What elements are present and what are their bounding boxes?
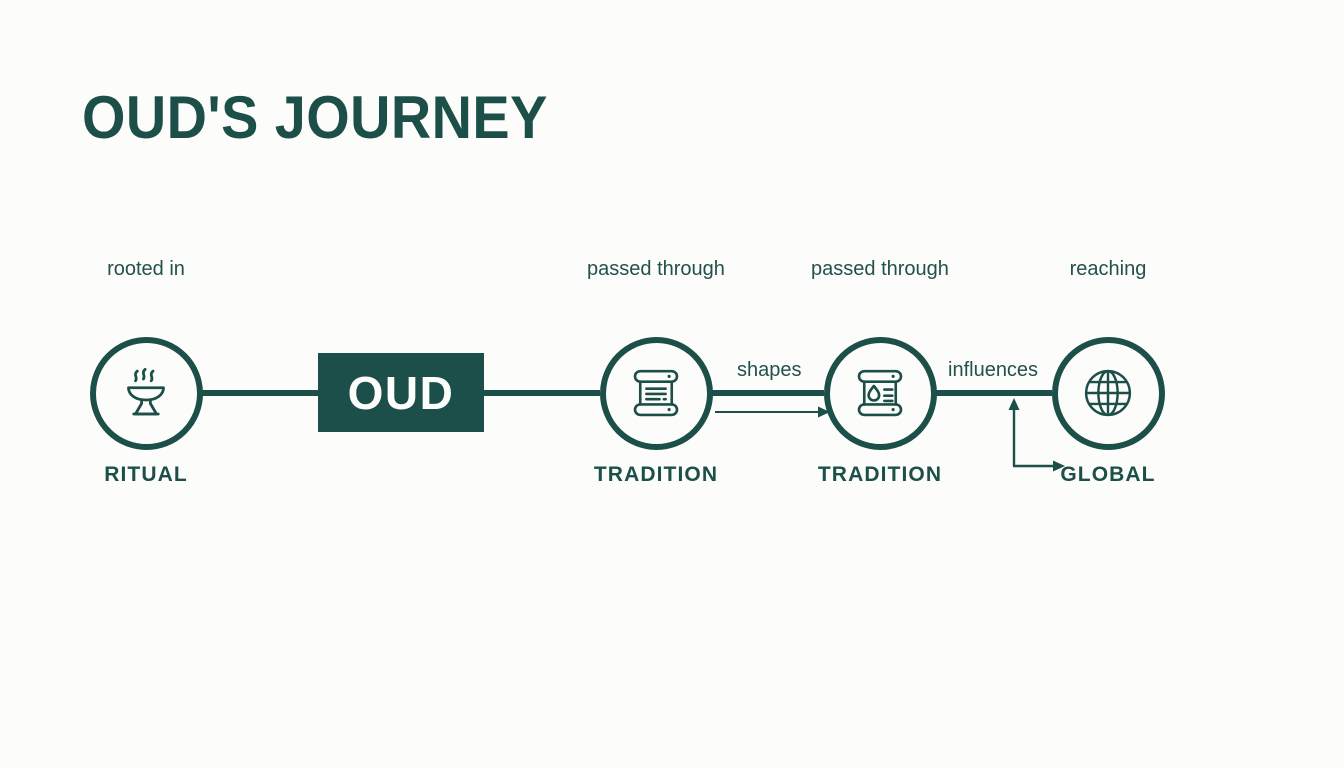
diagram-canvas: OUD'S JOURNEY OUD rooted in xyxy=(0,0,1344,768)
node-ritual-label: RITUAL xyxy=(16,463,276,487)
node-tradition-scroll-circle[interactable] xyxy=(600,337,713,450)
node-global-circle[interactable] xyxy=(1052,337,1165,450)
edge-label-shapes: shapes xyxy=(737,359,802,382)
node-tradition-oil-label: TRADITION xyxy=(750,463,1010,487)
oud-box: OUD xyxy=(318,353,484,432)
edge-label-influences: influences xyxy=(948,359,1038,382)
node-tradition-scroll-label: TRADITION xyxy=(526,463,786,487)
globe-icon xyxy=(1080,365,1136,421)
node-ritual-circle[interactable] xyxy=(90,337,203,450)
node-tradition-oil-circle[interactable] xyxy=(824,337,937,450)
scroll-oil-drop-icon xyxy=(852,365,908,421)
incense-burner-icon xyxy=(118,365,174,421)
node-global-label: GLOBAL xyxy=(978,463,1238,487)
oud-journey-diagram: OUD rooted in RITUAL xyxy=(0,0,1344,768)
node-ritual-caption: rooted in xyxy=(26,258,266,281)
node-tradition-oil-caption: passed through xyxy=(760,258,1000,281)
scroll-icon xyxy=(628,365,684,421)
oud-box-label: OUD xyxy=(348,370,455,416)
node-global-caption: reaching xyxy=(988,258,1228,281)
influences-arrow-head-up xyxy=(1009,398,1020,410)
node-tradition-scroll-caption: passed through xyxy=(536,258,776,281)
